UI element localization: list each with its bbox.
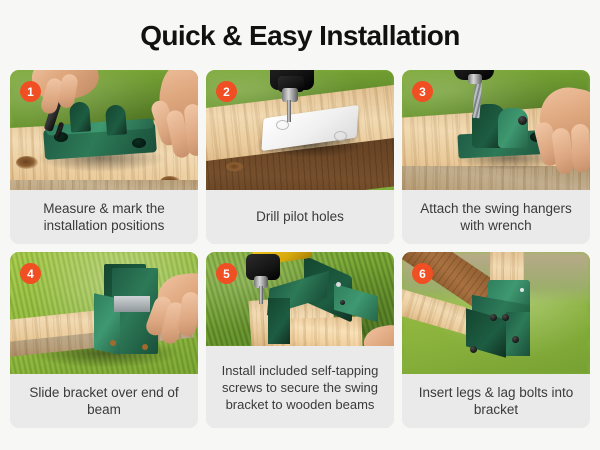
step-badge-1: 1: [20, 81, 41, 102]
step-image-3: 3: [402, 70, 590, 190]
step-badge-6: 6: [412, 263, 433, 284]
step-caption-3: Attach the swing hangers with wrench: [402, 190, 590, 244]
step-caption-2: Drill pilot holes: [206, 190, 394, 244]
step-caption-6: Insert legs & lag bolts into bracket: [402, 374, 590, 428]
step-caption-1: Measure & mark the installation position…: [10, 190, 198, 244]
step-card-3[interactable]: 3 Attach the swing hangers with wrench: [402, 70, 590, 244]
step-image-6: 6: [402, 252, 590, 374]
step-image-1: 1: [10, 70, 198, 190]
step-badge-2: 2: [216, 81, 237, 102]
step-card-2[interactable]: 2 Drill pilot holes: [206, 70, 394, 244]
step-badge-3: 3: [412, 81, 433, 102]
step-badge-5: 5: [216, 263, 237, 284]
step-card-5[interactable]: 5 Install included self-tapping screws t…: [206, 252, 394, 428]
step-card-4[interactable]: 4 Slide bracket over end of beam: [10, 252, 198, 428]
step-badge-4: 4: [20, 263, 41, 284]
step-card-6[interactable]: 6 Insert legs & lag bolts into bracket: [402, 252, 590, 428]
step-image-2: 2: [206, 70, 394, 190]
step-caption-4: Slide bracket over end of beam: [10, 374, 198, 428]
step-card-1[interactable]: 1 Measure & mark the installation positi…: [10, 70, 198, 244]
step-image-5: 5: [206, 252, 394, 346]
step-caption-5: Install included self-tapping screws to …: [206, 346, 394, 428]
page-title: Quick & Easy Installation: [0, 0, 600, 51]
steps-grid: 1 Measure & mark the installation positi…: [10, 70, 590, 428]
step-image-4: 4: [10, 252, 198, 374]
infographic-page: Quick & Easy Installation: [0, 0, 600, 450]
